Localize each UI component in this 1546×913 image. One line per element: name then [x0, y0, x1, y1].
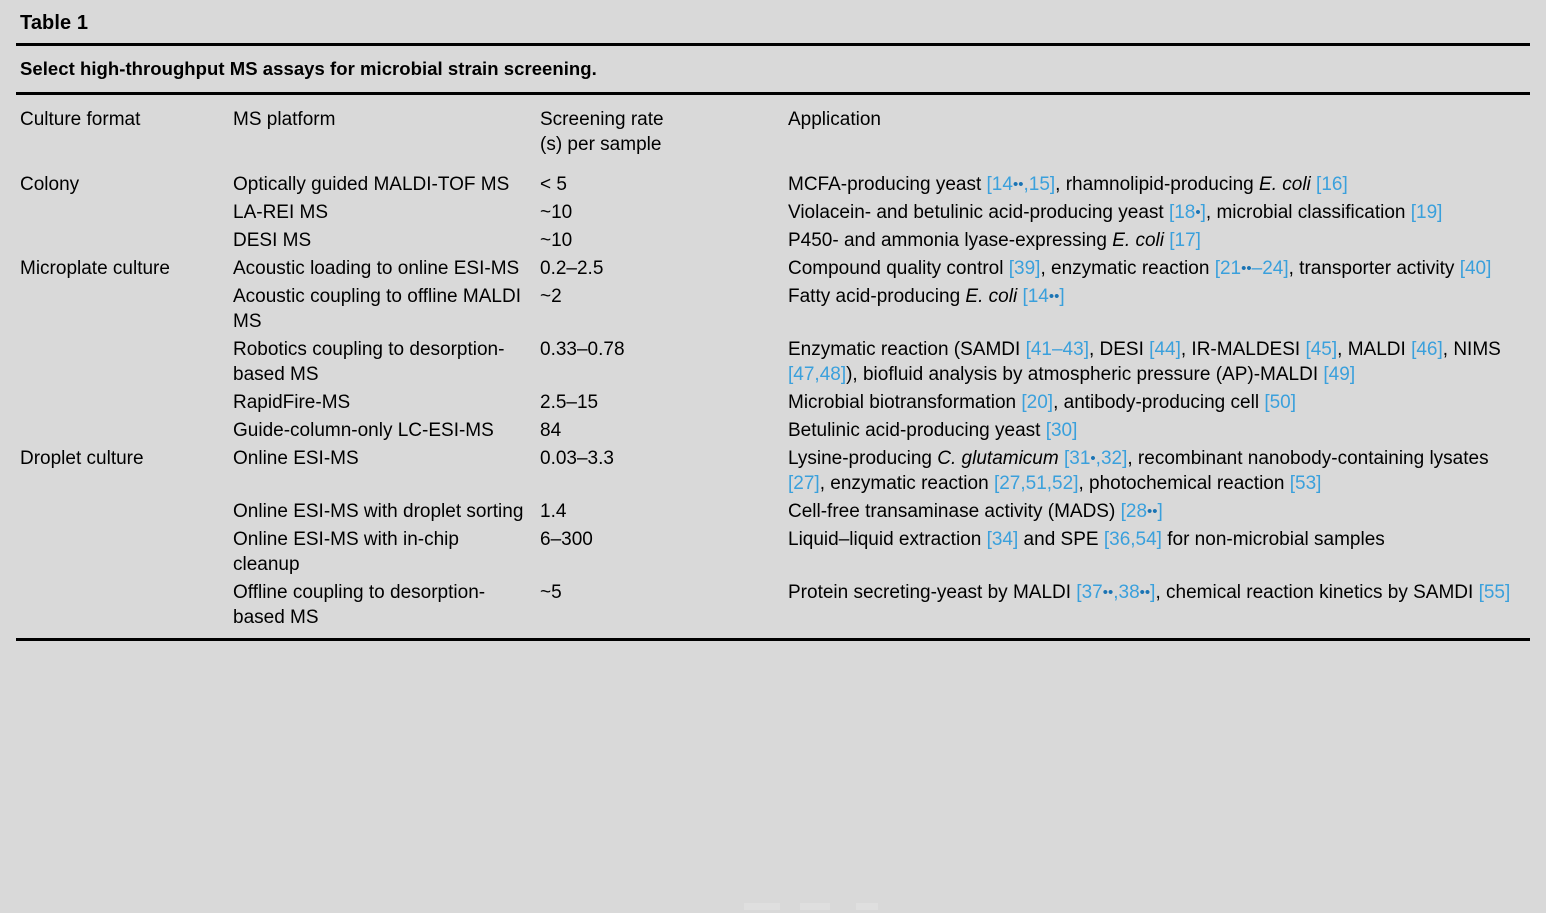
reference-link[interactable]: [19] [1411, 202, 1443, 223]
column-header-ms-platform: MS platform [229, 95, 536, 171]
cell-culture-format: Microplate culture [16, 255, 229, 283]
page-bottom-artifacts [0, 900, 1546, 913]
reference-link[interactable]: [18•] [1169, 202, 1206, 223]
column-header-screening-rate-line1: Screening rate [540, 107, 774, 132]
cell-application: Enzymatic reaction (SAMDI [41–43], DESI … [784, 336, 1530, 389]
table-container: Table 1 Select high-throughput MS assays… [16, 0, 1530, 641]
column-header-application: Application [784, 95, 1530, 171]
column-header-screening-rate-line2: (s) per sample [540, 132, 774, 157]
header-row: Culture format MS platform Screening rat… [16, 95, 1530, 171]
cell-application: P450- and ammonia lyase-expressing E. co… [784, 227, 1530, 255]
cell-screening-rate: 6–300 [536, 526, 784, 579]
cell-ms-platform: Acoustic coupling to offline MALDI MS [229, 283, 536, 336]
cell-application: Cell-free transaminase activity (MADS) [… [784, 498, 1530, 526]
cell-ms-platform: DESI MS [229, 227, 536, 255]
cell-application: Compound quality control [39], enzymatic… [784, 255, 1530, 283]
column-header-culture-format: Culture format [16, 95, 229, 171]
table-row: LA-REI MS~10Violacein- and betulinic aci… [16, 199, 1530, 227]
reference-link[interactable]: [47,48] [788, 364, 846, 385]
cell-ms-platform: Offline coupling to desorption-based MS [229, 579, 536, 632]
reference-link[interactable]: [28••] [1121, 501, 1163, 522]
reference-link[interactable]: [41–43] [1026, 339, 1089, 360]
reference-link[interactable]: [34] [987, 529, 1019, 550]
reference-link[interactable]: [14••] [1022, 286, 1064, 307]
cell-screening-rate: ~10 [536, 227, 784, 255]
cell-ms-platform: Guide-column-only LC-ESI-MS [229, 417, 536, 445]
cell-application: Fatty acid-producing E. coli [14••] [784, 283, 1530, 336]
table-row: Robotics coupling to desorption-based MS… [16, 336, 1530, 389]
reference-link[interactable]: [37••,38••] [1076, 582, 1155, 603]
cell-ms-platform: Robotics coupling to desorption-based MS [229, 336, 536, 389]
reference-link[interactable]: [30] [1046, 420, 1078, 441]
cell-culture-format [16, 579, 229, 632]
cell-culture-format [16, 389, 229, 417]
reference-link[interactable]: [49] [1323, 364, 1355, 385]
cell-culture-format [16, 227, 229, 255]
reference-link[interactable]: [40] [1460, 258, 1492, 279]
reference-link[interactable]: [50] [1264, 392, 1296, 413]
table-row: Microplate cultureAcoustic loading to on… [16, 255, 1530, 283]
table-number-label: Table 1 [16, 0, 1530, 43]
table-row: ColonyOptically guided MALDI-TOF MS< 5MC… [16, 171, 1530, 199]
cell-ms-platform: Acoustic loading to online ESI-MS [229, 255, 536, 283]
cell-screening-rate: ~5 [536, 579, 784, 632]
reference-link[interactable]: [21••–24] [1215, 258, 1289, 279]
table-head: Culture format MS platform Screening rat… [16, 95, 1530, 171]
cell-ms-platform: LA-REI MS [229, 199, 536, 227]
reference-link[interactable]: [31•,32] [1064, 448, 1127, 469]
cell-screening-rate: 84 [536, 417, 784, 445]
table-row: Droplet cultureOnline ESI-MS0.03–3.3Lysi… [16, 445, 1530, 498]
reference-link[interactable]: [46] [1411, 339, 1443, 360]
cell-culture-format [16, 498, 229, 526]
cell-screening-rate: ~2 [536, 283, 784, 336]
cell-culture-format [16, 283, 229, 336]
cell-screening-rate: 0.2–2.5 [536, 255, 784, 283]
cell-ms-platform: RapidFire-MS [229, 389, 536, 417]
reference-link[interactable]: [17] [1169, 230, 1201, 251]
cell-culture-format: Droplet culture [16, 445, 229, 498]
reference-link[interactable]: [39] [1009, 258, 1041, 279]
cell-screening-rate: 2.5–15 [536, 389, 784, 417]
table-caption: Select high-throughput MS assays for mic… [16, 46, 1530, 92]
reference-link[interactable]: [36,54] [1104, 529, 1162, 550]
table-row: Acoustic coupling to offline MALDI MS~2F… [16, 283, 1530, 336]
cell-screening-rate: ~10 [536, 199, 784, 227]
table-row: Offline coupling to desorption-based MS~… [16, 579, 1530, 632]
cell-application: MCFA-producing yeast [14••,15], rhamnoli… [784, 171, 1530, 199]
cell-ms-platform: Online ESI-MS [229, 445, 536, 498]
cell-culture-format [16, 526, 229, 579]
cell-culture-format [16, 336, 229, 389]
cell-screening-rate: 0.33–0.78 [536, 336, 784, 389]
reference-link[interactable]: [44] [1149, 339, 1181, 360]
reference-link[interactable]: [55] [1479, 582, 1511, 603]
reference-link[interactable]: [53] [1290, 473, 1322, 494]
reference-link[interactable]: [27,51,52] [994, 473, 1079, 494]
cell-application: Violacein- and betulinic acid-producing … [784, 199, 1530, 227]
reference-link[interactable]: [45] [1305, 339, 1337, 360]
cell-application: Protein secreting-yeast by MALDI [37••,3… [784, 579, 1530, 632]
table-row: Guide-column-only LC-ESI-MS84Betulinic a… [16, 417, 1530, 445]
cell-application: Betulinic acid-producing yeast [30] [784, 417, 1530, 445]
cell-ms-platform: Online ESI-MS with droplet sorting [229, 498, 536, 526]
cell-screening-rate: 1.4 [536, 498, 784, 526]
reference-link[interactable]: [14••,15] [987, 174, 1056, 195]
table-body: ColonyOptically guided MALDI-TOF MS< 5MC… [16, 171, 1530, 632]
cell-screening-rate: 0.03–3.3 [536, 445, 784, 498]
table-row: Online ESI-MS with droplet sorting1.4Cel… [16, 498, 1530, 526]
table-row: Online ESI-MS with in-chip cleanup6–300L… [16, 526, 1530, 579]
rule-bottom [16, 638, 1530, 641]
reference-link[interactable]: [27] [788, 473, 820, 494]
cell-culture-format [16, 417, 229, 445]
assays-table: Culture format MS platform Screening rat… [16, 95, 1530, 632]
cell-culture-format: Colony [16, 171, 229, 199]
column-header-screening-rate: Screening rate (s) per sample [536, 95, 784, 171]
cell-application: Liquid–liquid extraction [34] and SPE [3… [784, 526, 1530, 579]
cell-screening-rate: < 5 [536, 171, 784, 199]
cell-ms-platform: Online ESI-MS with in-chip cleanup [229, 526, 536, 579]
table-row: RapidFire-MS2.5–15Microbial biotransform… [16, 389, 1530, 417]
cell-culture-format [16, 199, 229, 227]
reference-link[interactable]: [20] [1021, 392, 1053, 413]
cell-application: Lysine-producing C. glutamicum [31•,32],… [784, 445, 1530, 498]
cell-application: Microbial biotransformation [20], antibo… [784, 389, 1530, 417]
reference-link[interactable]: [16] [1316, 174, 1348, 195]
table-row: DESI MS~10P450- and ammonia lyase-expres… [16, 227, 1530, 255]
cell-ms-platform: Optically guided MALDI-TOF MS [229, 171, 536, 199]
